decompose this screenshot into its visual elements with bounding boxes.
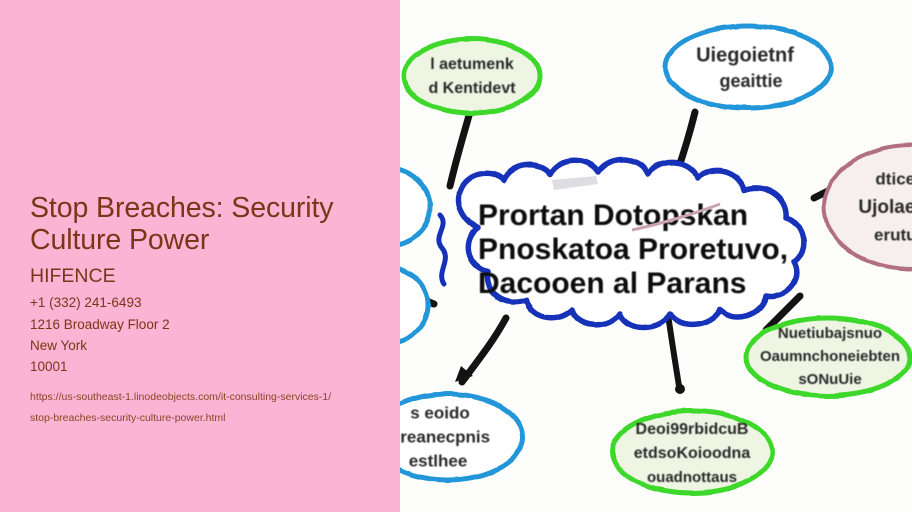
- node-right-lower-line-3: sONuUie: [798, 371, 861, 388]
- mindmap-illustration: Prortan Dotopskan Pnoskatoa Proretuvo, D…: [400, 0, 912, 512]
- page-title-line-2: Culture Power: [30, 225, 385, 257]
- page-title-line-1: Stop Breaches: Security: [30, 193, 385, 225]
- address-city: New York: [30, 335, 385, 356]
- page-title: Stop Breaches: Security Culture Power: [30, 193, 385, 257]
- center-text-line-2: Pnoskatoa Proretuvo,: [478, 233, 788, 266]
- source-url-line-1: https://us-southeast-1.linodeobjects.com…: [30, 387, 385, 409]
- node-bottom-left-line-1: s eoido: [410, 403, 470, 422]
- node-right-line-2: Ujolaeue: [858, 197, 912, 218]
- node-top-left-line-2: d Kentidevt: [428, 80, 516, 97]
- phone-number: +1 (332) 241-6493: [30, 292, 385, 313]
- node-right-lower-line-2: Oaumnchoneiebten: [760, 348, 900, 365]
- connector-dot: [675, 384, 685, 394]
- source-url-line-2: stop-breaches-security-culture-power.htm…: [30, 408, 385, 430]
- node-top-right-line-2: geaittie: [719, 71, 782, 91]
- node-top-left-ellipse: [404, 39, 540, 113]
- central-cloud-text: Prortan Dotopskan Pnoskatoa Proretuvo, D…: [478, 199, 788, 300]
- left-info-panel: Stop Breaches: Security Culture Power HI…: [0, 0, 400, 512]
- node-top-right-line-1: Uiegoietnf: [696, 44, 794, 66]
- node-right-lower[interactable]: Nuetiubajsnuo Oaumnchoneiebten sONuUie: [746, 318, 910, 396]
- brand-name: HIFENCE: [30, 264, 385, 288]
- node-right-line-1: dticee: [875, 169, 912, 188]
- node-bottom-left-line-2: nreanecpnis: [400, 427, 490, 446]
- node-bottom-center-line-3: ouadnottaus: [647, 469, 737, 486]
- node-top-right[interactable]: Uiegoietnf geaittie: [665, 26, 831, 108]
- node-top-left-line-1: l aetumenk: [430, 56, 514, 73]
- center-text-line-1: Prortan Dotopskan: [478, 199, 748, 232]
- node-top-left[interactable]: l aetumenk d Kentidevt: [404, 39, 540, 113]
- node-bottom-left[interactable]: s eoido nreanecpnis estlhee: [400, 394, 523, 480]
- center-text-line-3: Dacooen al Parans: [478, 267, 746, 300]
- node-right-lower-line-1: Nuetiubajsnuo: [778, 325, 882, 342]
- node-bottom-center-line-1: Deoi99rbidcuB: [636, 421, 749, 438]
- address-zip: 10001: [30, 356, 385, 377]
- mindmap-svg: Prortan Dotopskan Pnoskatoa Proretuvo, D…: [400, 0, 912, 512]
- left-panel-content: Stop Breaches: Security Culture Power HI…: [30, 193, 385, 430]
- node-bottom-center[interactable]: Deoi99rbidcuB etdsoKoioodna ouadnottaus: [612, 411, 772, 493]
- node-bottom-left-line-3: estlhee: [409, 451, 468, 470]
- address-street: 1216 Broadway Floor 2: [30, 314, 385, 335]
- node-right-line-3: erutue: [874, 225, 912, 244]
- source-url[interactable]: https://us-southeast-1.linodeobjects.com…: [30, 387, 385, 430]
- node-bottom-center-line-2: etdsoKoioodna: [634, 445, 751, 462]
- poster-page: Stop Breaches: Security Culture Power HI…: [0, 0, 912, 512]
- node-top-right-ellipse: [665, 26, 831, 108]
